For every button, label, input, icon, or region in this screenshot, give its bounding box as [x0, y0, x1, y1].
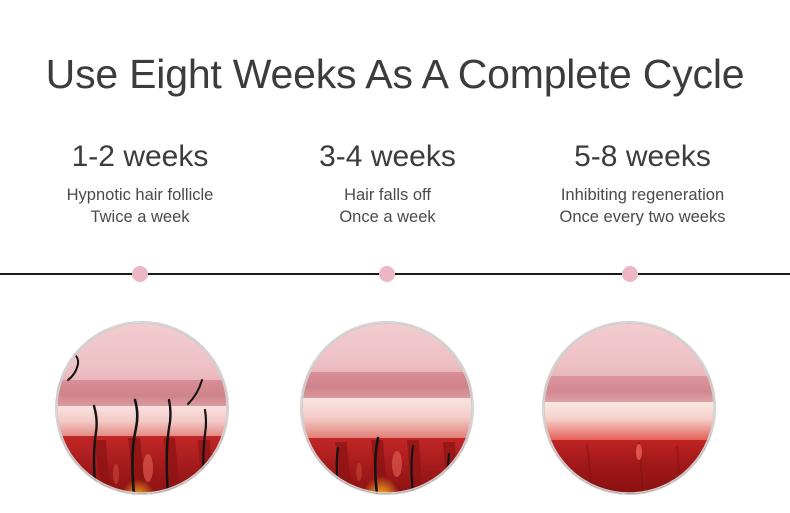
stage-label-row: 1-2 weeks Hypnotic hair follicle Twice a…: [0, 140, 790, 228]
stage-description-line-1: Hair falls off: [280, 184, 495, 206]
timeline-axis: [0, 273, 790, 275]
infographic-page: Use Eight Weeks As A Complete Cycle 1-2 …: [0, 0, 790, 513]
stage-column-3: 5-8 weeks Inhibiting regeneration Once e…: [495, 140, 790, 228]
timeline-marker-dot-3: [622, 266, 638, 282]
skin-cross-section-no-hairs: [543, 322, 715, 494]
stage-description: Hypnotic hair follicle Twice a week: [0, 184, 280, 229]
stage-description-line-2: Twice a week: [0, 206, 280, 228]
illustration-row: [0, 322, 790, 513]
stage-column-2: 3-4 weeks Hair falls off Once a week: [280, 140, 495, 228]
stage-description-line-2: Once a week: [280, 206, 495, 228]
stage-description: Inhibiting regeneration Once every two w…: [495, 184, 790, 229]
stage-description: Hair falls off Once a week: [280, 184, 495, 229]
stage-description-line-1: Inhibiting regeneration: [495, 184, 790, 206]
timeline-marker-dot-2: [379, 266, 395, 282]
skin-illustration-stage-3: [543, 322, 715, 494]
stage-heading: 5-8 weeks: [495, 140, 790, 175]
stage-heading: 3-4 weeks: [280, 140, 495, 175]
skin-illustration-stage-1: [56, 322, 228, 494]
skin-cross-section-hairs-receding: [301, 322, 473, 494]
page-title: Use Eight Weeks As A Complete Cycle: [0, 52, 790, 97]
stage-column-1: 1-2 weeks Hypnotic hair follicle Twice a…: [0, 140, 280, 228]
stage-heading: 1-2 weeks: [0, 140, 280, 175]
timeline-marker-dot-1: [132, 266, 148, 282]
skin-cross-section-hairs-full: [56, 322, 228, 494]
stage-description-line-1: Hypnotic hair follicle: [0, 184, 280, 206]
stage-description-line-2: Once every two weeks: [495, 206, 790, 228]
skin-illustration-stage-2: [301, 322, 473, 494]
